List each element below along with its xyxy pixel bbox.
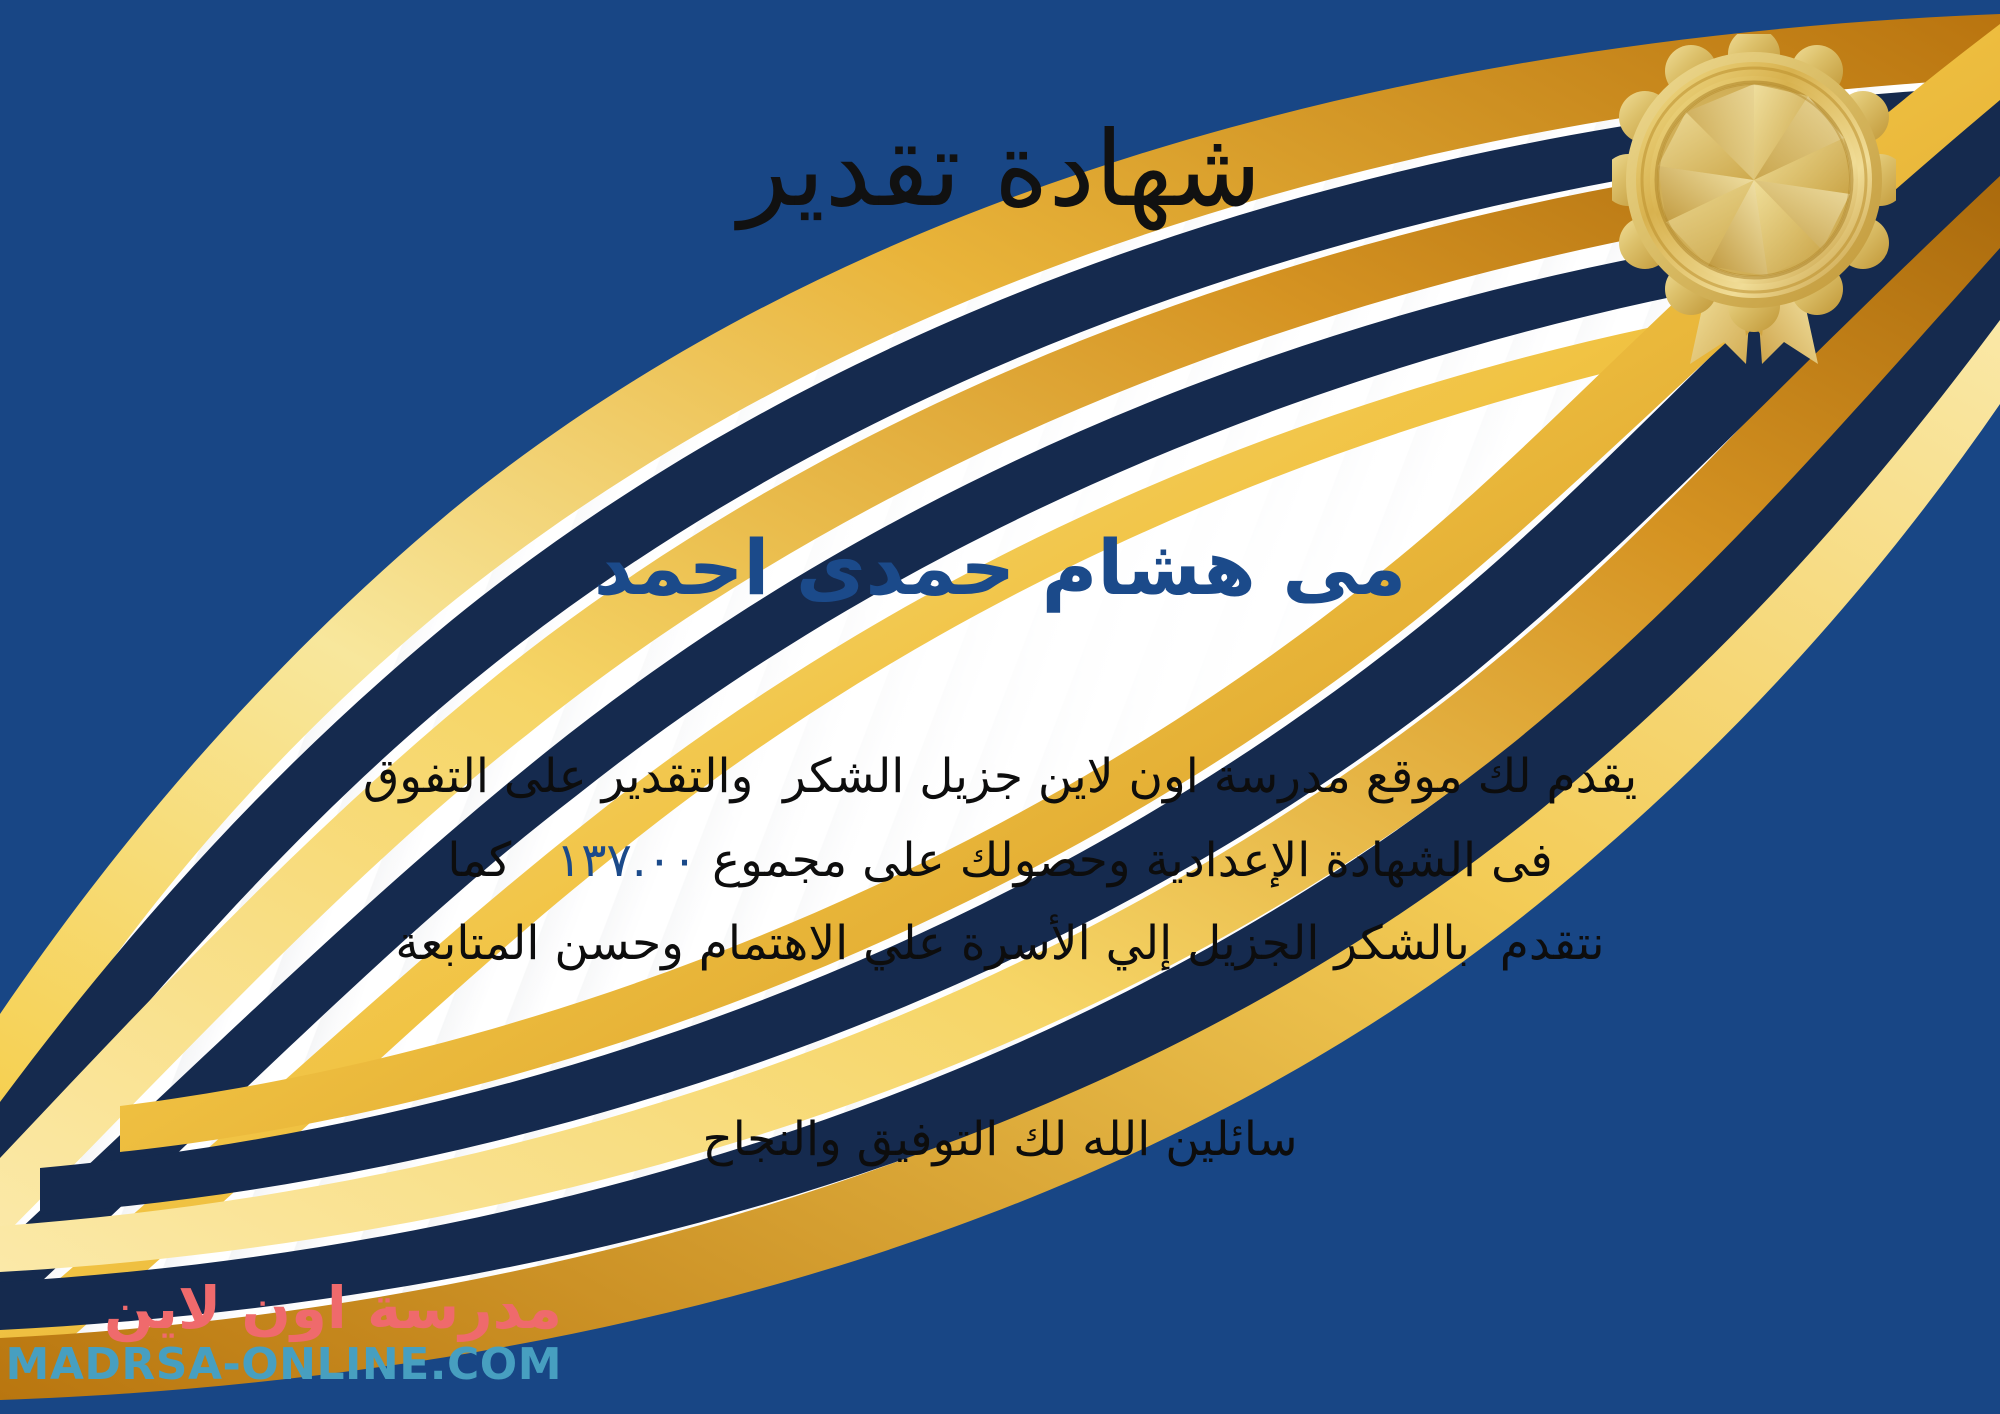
- site-logo[interactable]: مدرسة اون لاين MADRSA-ONLINE.COM: [22, 1258, 562, 1408]
- closing-line: سائلين الله لك التوفيق والنجاح: [0, 1112, 2000, 1167]
- certificate-canvas: شهادة تقدير مى هشام حمدى احمد يقدم لك مو…: [0, 0, 2000, 1414]
- certificate-title: شهادة تقدير: [0, 110, 2000, 230]
- certificate-body: يقدم لك موقع مدرسة اون لاين جزيل الشكر و…: [0, 735, 2000, 986]
- logo-website-url: MADRSA-ONLINE.COM: [6, 1343, 562, 1387]
- body-line-2: فى الشهادة الإعدادية وحصولك على مجموع ١٣…: [0, 819, 2000, 903]
- logo-arabic-name: مدرسة اون لاين: [104, 1279, 562, 1337]
- body-line-3: نتقدم بالشكر الجزيل إلي الأسرة علي الاهت…: [0, 902, 2000, 986]
- body-line-1: يقدم لك موقع مدرسة اون لاين جزيل الشكر و…: [0, 735, 2000, 819]
- body-line-2-suffix: كما: [447, 833, 556, 888]
- body-line-2-prefix: فى الشهادة الإعدادية وحصولك على مجموع: [697, 833, 1552, 888]
- student-name: مى هشام حمدى احمد: [0, 522, 2000, 613]
- certificate-content: شهادة تقدير مى هشام حمدى احمد يقدم لك مو…: [0, 0, 2000, 1414]
- total-score-value: ١٣٧.٠٠: [556, 833, 697, 888]
- logo-text-group: مدرسة اون لاين MADRSA-ONLINE.COM: [6, 1279, 562, 1387]
